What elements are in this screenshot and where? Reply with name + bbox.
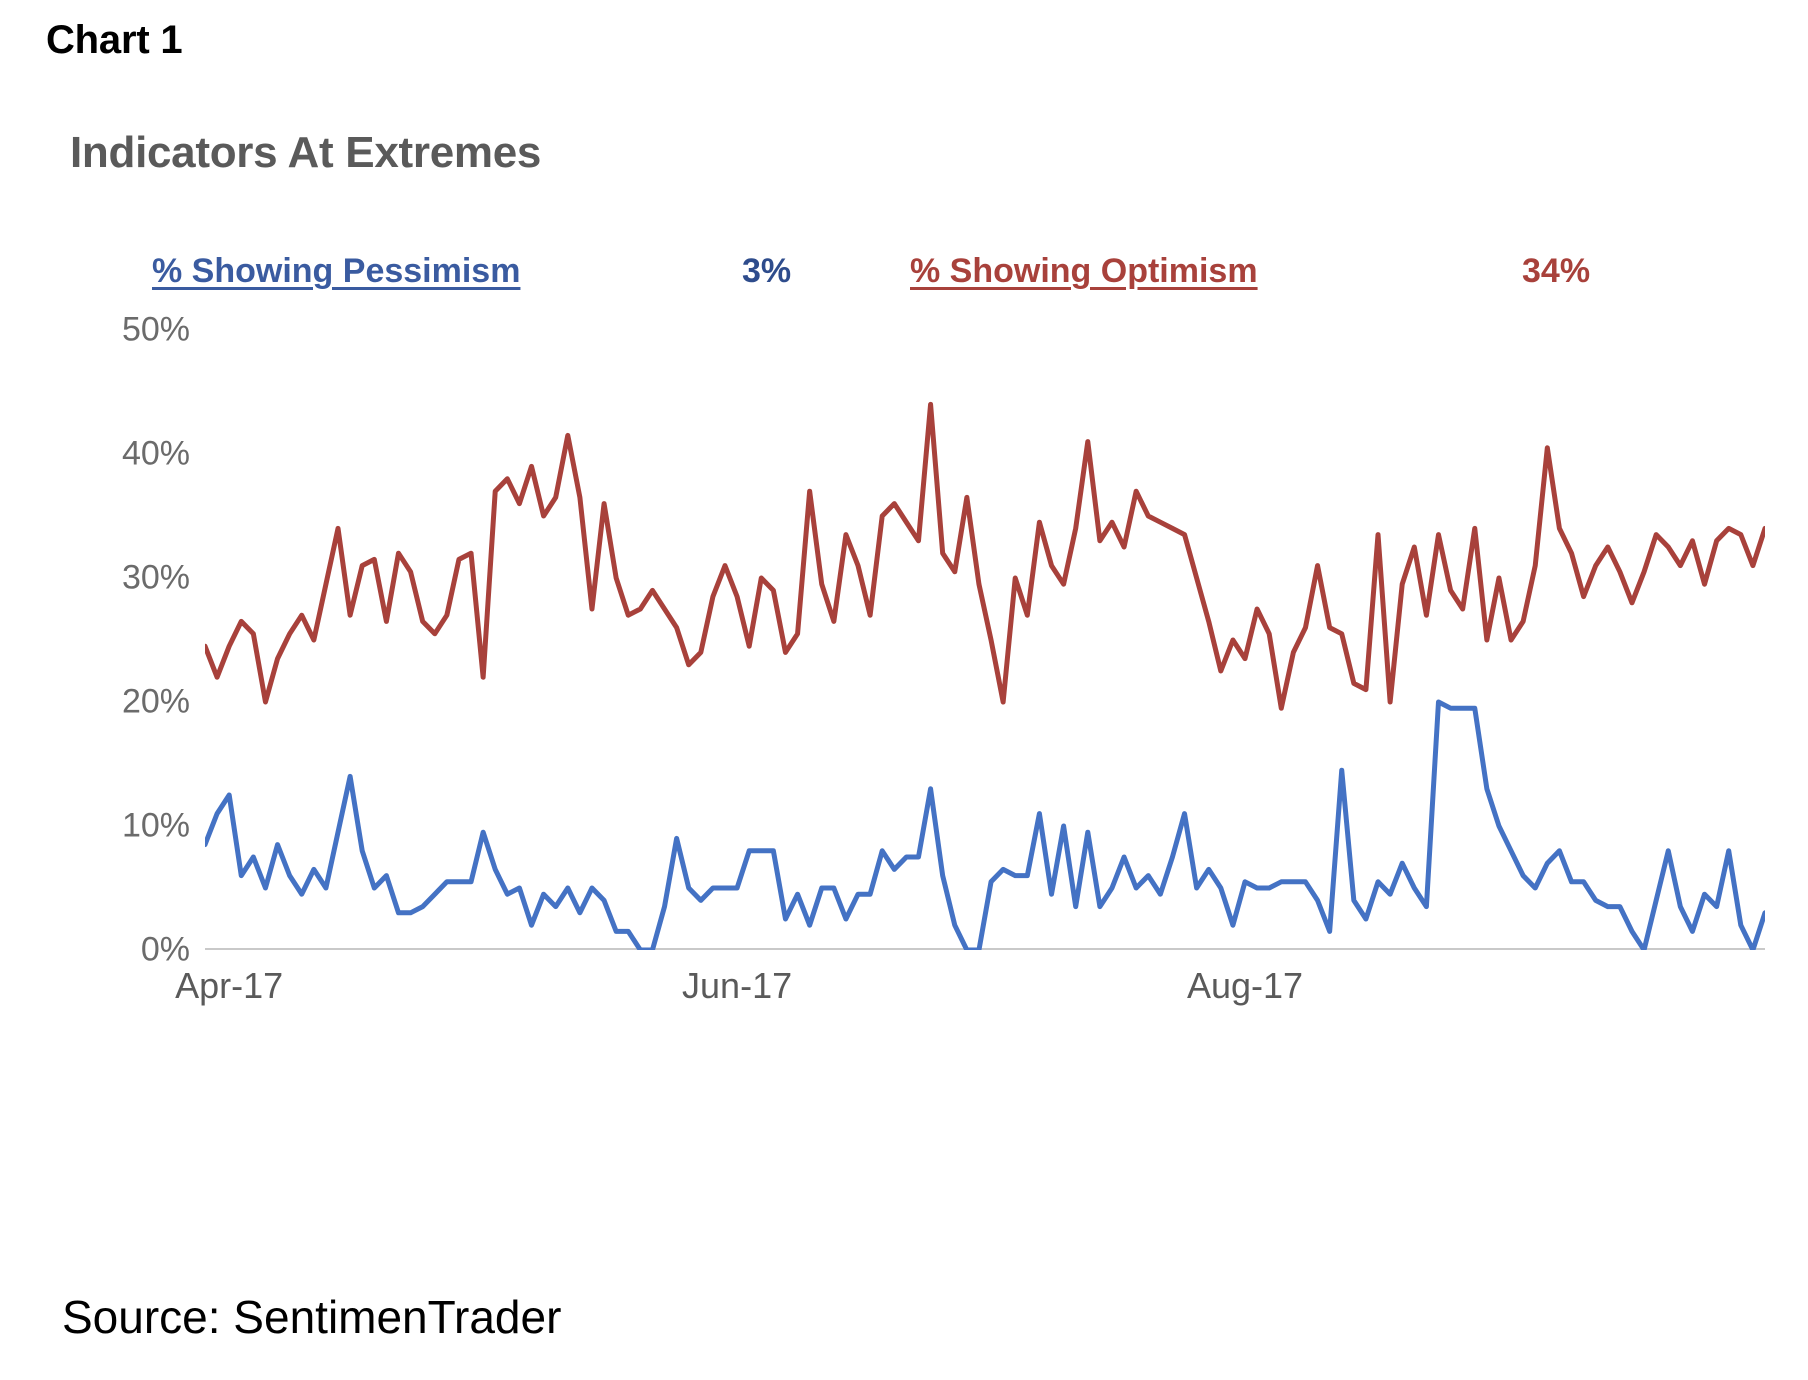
- y-tick-label-40pct: 40%: [30, 435, 190, 474]
- y-tick-label-0pct: 0%: [30, 931, 190, 970]
- chart-plot-wrapper: 0%10%20%30%40%50% Apr-17Jun-17Aug-17: [0, 330, 1808, 1030]
- legend-item-optimism-value: 34%: [1522, 252, 1590, 291]
- x-tick-label-apr-17: Apr-17: [175, 965, 283, 1007]
- legend-item-pessimism-value: 3%: [742, 252, 791, 291]
- chart-plot-area: [205, 330, 1765, 950]
- x-tick-label-aug-17: Aug-17: [1187, 965, 1303, 1007]
- chart-title: Indicators At Extremes: [70, 128, 541, 178]
- y-tick-label-30pct: 30%: [30, 559, 190, 598]
- x-tick-label-jun-17: Jun-17: [682, 965, 792, 1007]
- y-tick-label-50pct: 50%: [30, 311, 190, 350]
- series-line-pessimism: [205, 702, 1765, 950]
- y-tick-label-20pct: 20%: [30, 683, 190, 722]
- line-chart-svg: [205, 330, 1765, 950]
- chart-legend: % Showing Pessimism 3% % Showing Optimis…: [70, 252, 1730, 302]
- y-axis-tick-labels: 0%10%20%30%40%50%: [20, 330, 190, 950]
- source-note: Source: SentimenTrader: [62, 1290, 561, 1344]
- chart-number-label: Chart 1: [46, 18, 182, 63]
- legend-item-pessimism-label: % Showing Pessimism: [152, 252, 520, 291]
- y-tick-label-10pct: 10%: [30, 807, 190, 846]
- series-line-optimism: [205, 404, 1765, 708]
- legend-item-optimism-label: % Showing Optimism: [910, 252, 1258, 291]
- x-axis-tick-labels: Apr-17Jun-17Aug-17: [205, 965, 1765, 1025]
